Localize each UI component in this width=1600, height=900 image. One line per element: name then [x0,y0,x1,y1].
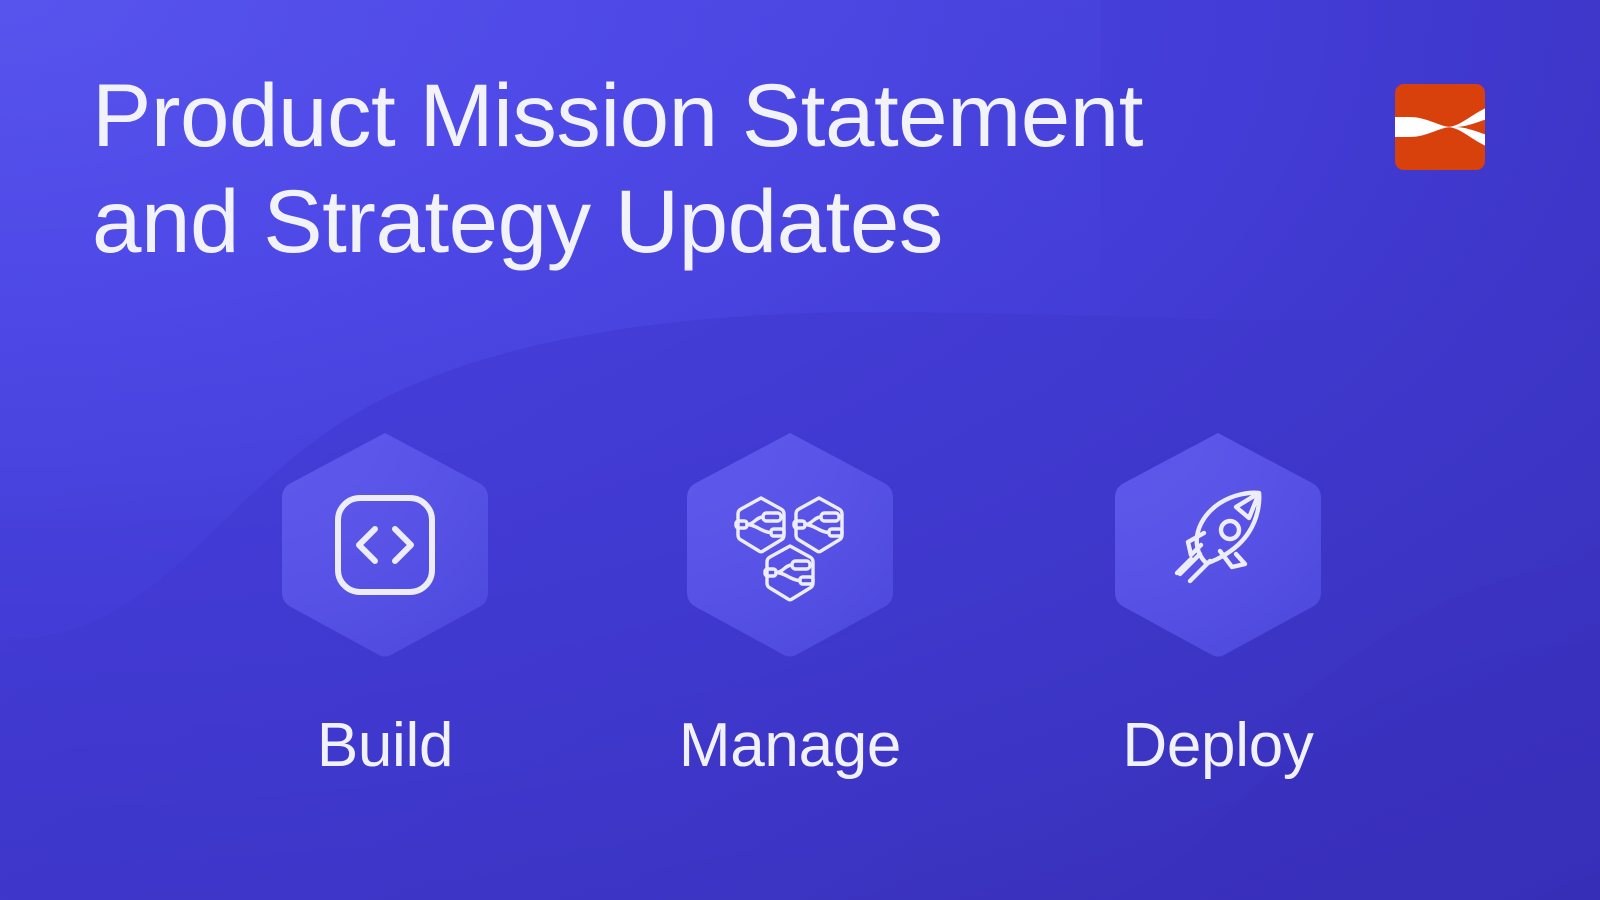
feature-label-manage: Manage [580,706,1000,786]
feature-hex-manage[interactable] [660,415,920,675]
slide-canvas: Product Mission Statement and Strategy U… [0,0,1600,900]
node-cluster-icon [730,485,850,605]
brand-logo[interactable] [1395,84,1485,170]
rocket-icon [1158,485,1278,605]
feature-label-row: Build Manage Deploy [0,706,1600,796]
fork-branch-mark-icon [1395,84,1485,170]
feature-hex-build[interactable] [255,415,515,675]
feature-label-build: Build [175,706,595,786]
feature-icon-row [0,415,1600,675]
feature-label-deploy: Deploy [1008,706,1428,786]
code-brackets-icon [325,485,445,605]
page-title: Product Mission Statement and Strategy U… [92,62,1272,274]
feature-hex-deploy[interactable] [1088,415,1348,675]
